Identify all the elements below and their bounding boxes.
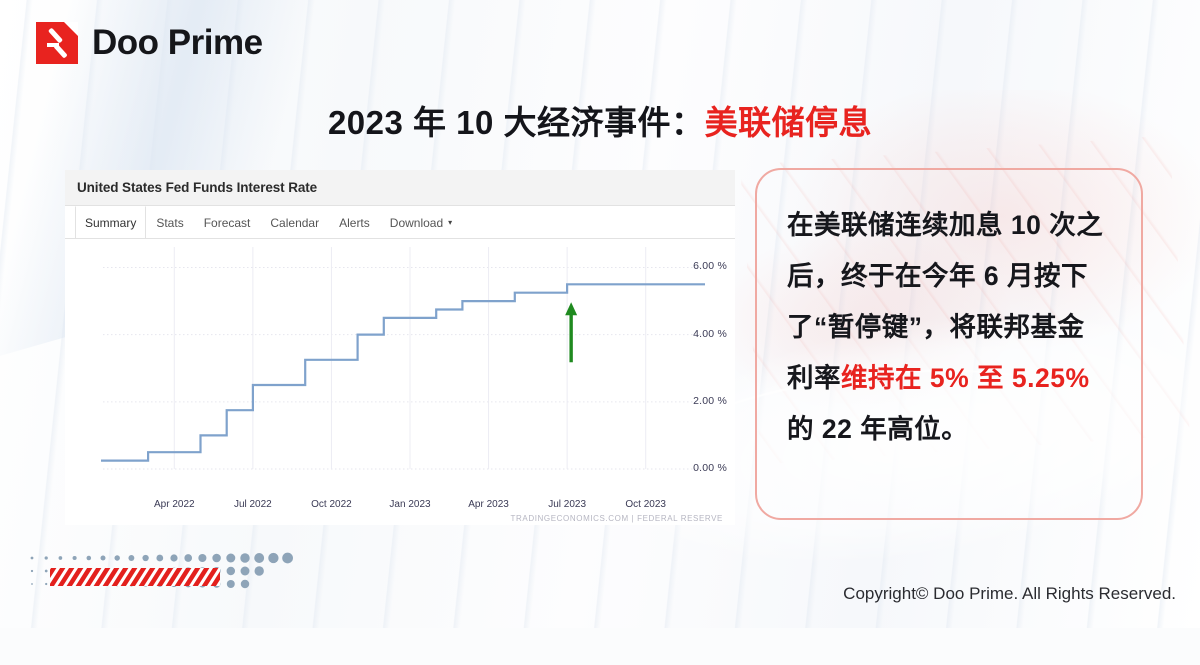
tab-stats-label: Stats — [156, 216, 183, 230]
tab-forecast[interactable]: Forecast — [194, 206, 261, 238]
chart-panel: United States Fed Funds Interest Rate Su… — [65, 170, 735, 525]
brand-name: Doo Prime — [92, 23, 263, 63]
x-axis-tick-label: Jul 2022 — [234, 499, 272, 510]
tab-calendar-label: Calendar — [270, 216, 319, 230]
page-title-main: 2023 年 10 大经济事件： — [328, 104, 705, 141]
x-axis-tick-label: Jan 2023 — [389, 499, 430, 510]
y-axis-tick-label: 6.00 % — [693, 260, 727, 272]
tab-download-label: Download — [390, 216, 443, 230]
y-axis-tick-label: 2.00 % — [693, 395, 727, 407]
chart-plot-area: 0.00 %2.00 %4.00 %6.00 % Apr 2022Jul 202… — [65, 239, 735, 525]
tab-calendar[interactable]: Calendar — [260, 206, 329, 238]
x-axis-tick-label: Apr 2023 — [468, 499, 509, 510]
tab-download[interactable]: Download ▾ — [380, 206, 462, 238]
page-title: 2023 年 10 大经济事件：美联储停息 — [0, 96, 1200, 144]
y-axis-tick-label: 4.00 % — [693, 328, 727, 340]
series-fed-funds-rate — [101, 284, 705, 460]
callout-text: 在美联储连续加息 10 次之后，终于在今年 6 月按下了“暂停键”，将联邦基金利… — [787, 200, 1111, 455]
tab-stats[interactable]: Stats — [146, 206, 193, 238]
chart-vertical-gridlines — [174, 247, 645, 469]
copyright-text: Copyright© Doo Prime. All Rights Reserve… — [843, 584, 1176, 604]
chart-source-credit: TRADINGECONOMICS.COM | FEDERAL RESERVE — [511, 514, 723, 523]
fed-funds-rate-line-chart — [65, 239, 735, 525]
chart-title: United States Fed Funds Interest Rate — [77, 180, 317, 195]
chart-gridlines — [103, 267, 705, 469]
x-axis-tick-label: Oct 2022 — [311, 499, 352, 510]
chart-tab-bar: Summary Stats Forecast Calendar Alerts D… — [65, 206, 735, 239]
callout-segment-1: 维持在 5% 至 5.25% — [841, 363, 1090, 393]
tab-alerts-label: Alerts — [339, 216, 370, 230]
dots-stripes-decoration-icon — [24, 546, 324, 596]
tab-summary[interactable]: Summary — [75, 206, 146, 238]
tab-summary-label: Summary — [85, 216, 136, 230]
tab-forecast-label: Forecast — [204, 216, 251, 230]
tab-alerts[interactable]: Alerts — [329, 206, 380, 238]
y-axis-tick-label: 0.00 % — [693, 462, 727, 474]
callout-segment-2: 的 22 年高位。 — [787, 414, 968, 444]
page-title-accent: 美联储停息 — [705, 104, 873, 141]
x-axis-tick-label: Jul 2023 — [548, 499, 586, 510]
callout-box: 在美联储连续加息 10 次之后，终于在今年 6 月按下了“暂停键”，将联邦基金利… — [755, 168, 1143, 520]
brand-logo: Doo Prime — [36, 22, 263, 64]
x-axis-tick-label: Oct 2023 — [625, 499, 666, 510]
chart-header: United States Fed Funds Interest Rate — [65, 170, 735, 206]
doo-prime-logo-icon — [36, 22, 78, 64]
x-axis-tick-label: Apr 2022 — [154, 499, 195, 510]
chevron-down-icon: ▾ — [448, 218, 452, 227]
